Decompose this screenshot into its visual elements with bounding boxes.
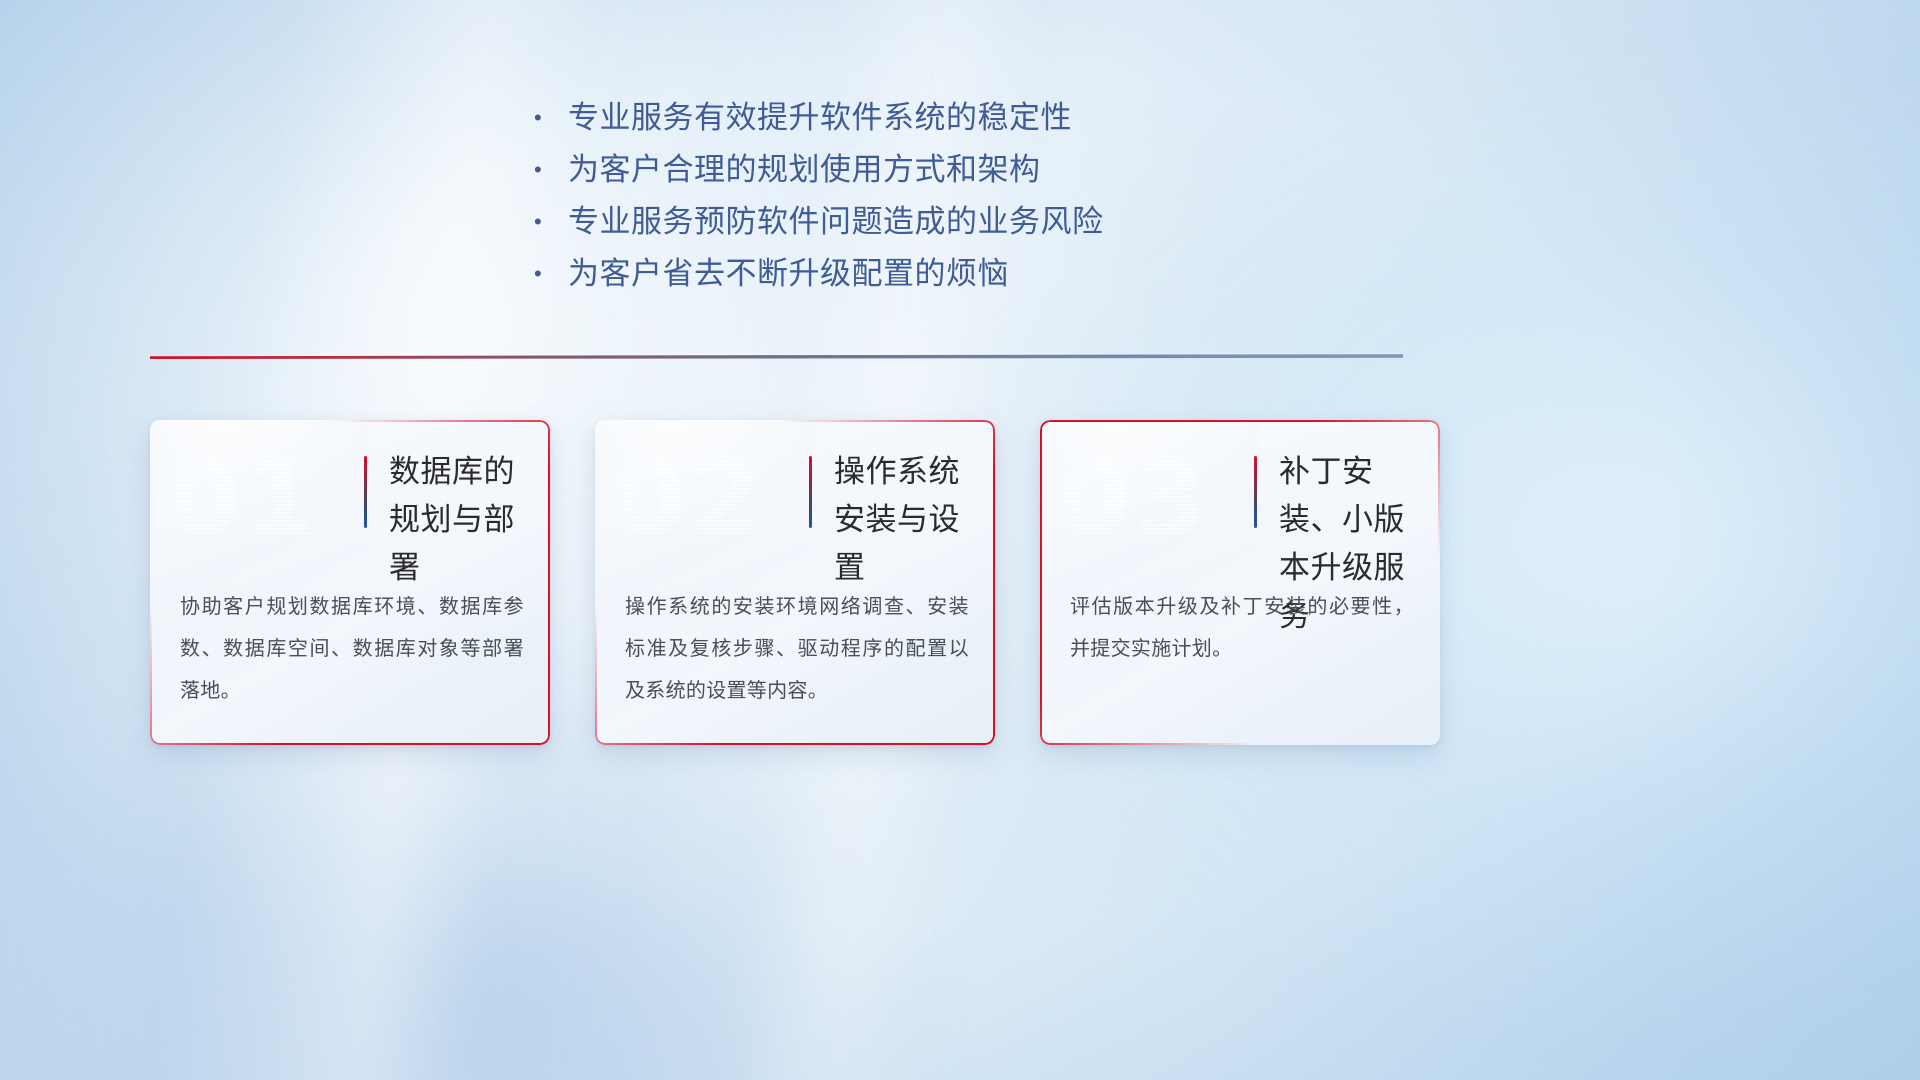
service-card-01[interactable]: 01 数据库的规划与部署 协助客户规划数据库环境、数据库参数、数据库空间、数据库…	[150, 420, 550, 745]
card-accent-bar-icon	[809, 456, 812, 528]
list-item: • 专业服务有效提升软件系统的稳定性	[534, 92, 1434, 144]
bullet-text: 为客户省去不断升级配置的烦恼	[568, 248, 1009, 300]
list-item: • 专业服务预防软件问题造成的业务风险	[534, 196, 1434, 248]
card-title: 数据库的规划与部署	[389, 448, 532, 592]
card-accent-bar-icon	[364, 456, 367, 528]
bullet-dot-icon: •	[534, 248, 568, 300]
bullet-dot-icon: •	[534, 196, 568, 248]
list-item: • 为客户省去不断升级配置的烦恼	[534, 248, 1434, 300]
bullet-text: 专业服务预防软件问题造成的业务风险	[568, 196, 1104, 248]
card-body-text: 协助客户规划数据库环境、数据库参数、数据库空间、数据库对象等部署落地。	[180, 586, 524, 712]
card-number-watermark: 03	[1058, 438, 1211, 558]
card-heading: 数据库的规划与部署	[364, 448, 532, 592]
bullet-text: 专业服务有效提升软件系统的稳定性	[568, 92, 1072, 144]
service-card-02[interactable]: 02 操作系统安装与设置 操作系统的安装环境网络调查、安装标准及复核步骤、驱动程…	[595, 420, 995, 745]
card-number-watermark: 02	[613, 438, 766, 558]
bullet-dot-icon: •	[534, 144, 568, 196]
card-heading: 操作系统安装与设置	[809, 448, 977, 592]
card-body-text: 操作系统的安装环境网络调查、安装标准及复核步骤、驱动程序的配置以及系统的设置等内…	[625, 586, 969, 712]
section-divider	[150, 350, 1403, 364]
bullet-dot-icon: •	[534, 92, 568, 144]
card-number-watermark: 01	[168, 438, 321, 558]
bullet-text: 为客户合理的规划使用方式和架构	[568, 144, 1041, 196]
card-accent-bar-icon	[1254, 456, 1257, 528]
list-item: • 为客户合理的规划使用方式和架构	[534, 144, 1434, 196]
card-body-text: 评估版本升级及补丁安装的必要性，并提交实施计划。	[1070, 586, 1414, 670]
service-card-row: 01 数据库的规划与部署 协助客户规划数据库环境、数据库参数、数据库空间、数据库…	[150, 420, 1440, 745]
card-title: 操作系统安装与设置	[834, 448, 977, 592]
benefits-bullet-list: • 专业服务有效提升软件系统的稳定性 • 为客户合理的规划使用方式和架构 • 专…	[534, 92, 1434, 300]
service-card-03[interactable]: 03 补丁安装、小版本升级服务 评估版本升级及补丁安装的必要性，并提交实施计划。	[1040, 420, 1440, 745]
